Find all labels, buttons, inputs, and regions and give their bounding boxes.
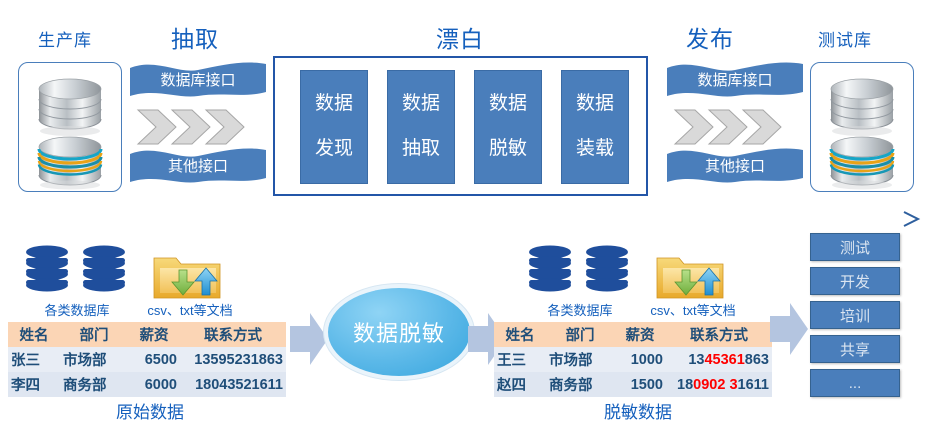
bleach-panel: 数据 发现 数据 抽取 数据 脱敏 数据 装载 [273,56,648,196]
tel-suffix: 863 [745,352,769,368]
tel-prefix: 13 [688,352,704,368]
heading-test-db: 测试库 [790,26,900,51]
extract-ribbon-bottom: 其他接口 [130,148,266,188]
production-db-container [18,62,122,192]
cell-contact: 18043521611 [180,372,286,397]
bleach-step-3-line1: 数据 [489,93,527,115]
usage-box-sharing-label: 共享 [840,339,870,360]
col-header-name: 姓名 [8,322,60,347]
right-db-caption: 各类数据库 [525,300,635,319]
col-header-contact: 联系方式 [180,322,286,347]
right-file-caption: csv、txt等文档 [637,300,749,319]
table-row: 李四 商务部 6000 18043521611 [8,372,286,397]
usage-box-training-label: 培训 [840,305,870,326]
test-db-container [810,62,914,192]
table-header-row: 姓名 部门 薪资 联系方式 [494,322,772,347]
tel-masked: 0902 3 [693,377,737,393]
col-header-contact: 联系方式 [666,322,772,347]
table-header-row: 姓名 部门 薪资 联系方式 [8,322,286,347]
cell-dept: 市场部 [546,347,614,372]
cell-salary: 1500 [614,372,666,397]
masked-data-caption: 脱敏数据 [548,398,728,423]
publish-ribbon-top: 数据库接口 [667,62,803,102]
bleach-step-4-line1: 数据 [576,93,614,115]
col-header-salary: 薪资 [614,322,666,347]
extract-chevrons [136,108,258,146]
usage-box-development[interactable]: 开发 [810,267,900,295]
database-icon-left-group [22,245,132,298]
cell-contact: 1345361863 [666,347,772,372]
extract-ribbon-top: 数据库接口 [130,62,266,102]
bleach-step-3-line2: 脱敏 [489,138,527,160]
heading-production-db: 生产库 [10,26,120,51]
cell-salary: 1000 [614,347,666,372]
heading-publish: 发布 [655,20,765,54]
col-header-name: 姓名 [494,322,546,347]
masked-data-table: 姓名 部门 薪资 联系方式 王三 市场部 1000 1345361863 赵四 … [494,322,772,397]
timeline-arrow [0,205,928,233]
cell-dept: 市场部 [60,347,128,372]
database-icon-test [811,63,913,191]
database-icon-production [19,63,121,191]
usage-box-development-label: 开发 [840,271,870,292]
publish-chevrons [673,108,795,146]
cell-name: 王三 [494,347,546,372]
cell-name: 李四 [8,372,60,397]
bleach-step-4[interactable]: 数据 装载 [561,70,629,184]
heading-extract: 抽取 [140,20,250,54]
database-icon-right-group [525,245,635,298]
col-header-salary: 薪资 [128,322,180,347]
col-header-dept: 部门 [546,322,614,347]
usage-box-test[interactable]: 测试 [810,233,900,261]
cell-contact: 13595231863 [180,347,286,372]
usage-box-test-label: 测试 [840,237,870,258]
bleach-step-1-line2: 发现 [315,138,353,160]
bleach-step-2-line2: 抽取 [402,138,440,160]
extract-ribbon-bottom-label: 其他接口 [130,148,266,186]
cell-dept: 商务部 [546,372,614,397]
cell-contact: 180902 31611 [666,372,772,397]
bleach-step-1-line1: 数据 [315,93,353,115]
cell-name: 张三 [8,347,60,372]
cell-dept: 商务部 [60,372,128,397]
extract-ribbon-top-label: 数据库接口 [130,62,266,100]
cell-name: 赵四 [494,372,546,397]
usage-box-sharing[interactable]: 共享 [810,335,900,363]
flow-arrow-left [288,310,330,373]
tel-prefix: 18 [677,377,693,393]
left-db-caption: 各类数据库 [22,300,132,319]
tel-masked: 45361 [704,352,744,368]
original-data-caption: 原始数据 [60,398,240,423]
cell-salary: 6500 [128,347,180,372]
original-data-table: 姓名 部门 薪资 联系方式 张三 市场部 6500 13595231863 李四… [8,322,286,397]
usage-box-more-label: ... [849,375,862,392]
heading-bleach: 漂白 [405,20,515,54]
publish-ribbon-bottom: 其他接口 [667,148,803,188]
bleach-step-3[interactable]: 数据 脱敏 [474,70,542,184]
publish-ribbon-bottom-label: 其他接口 [667,148,803,186]
usage-box-more[interactable]: ... [810,369,900,397]
bleach-step-1[interactable]: 数据 发现 [300,70,368,184]
tel-suffix: 1611 [738,377,769,393]
table-row: 王三 市场部 1000 1345361863 [494,347,772,372]
bleach-step-2-line1: 数据 [402,93,440,115]
table-row: 赵四 商务部 1500 180902 31611 [494,372,772,397]
bleach-step-4-line2: 装载 [576,138,614,160]
col-header-dept: 部门 [60,322,128,347]
flow-arrow-right [768,300,810,363]
cell-salary: 6000 [128,372,180,397]
masking-process-label: 数据脱敏 [353,316,445,348]
publish-ribbon-top-label: 数据库接口 [667,62,803,100]
usage-box-training[interactable]: 培训 [810,301,900,329]
bleach-step-2[interactable]: 数据 抽取 [387,70,455,184]
masking-process-ellipse[interactable]: 数据脱敏 [328,288,470,376]
left-file-caption: csv、txt等文档 [134,300,246,319]
table-row: 张三 市场部 6500 13595231863 [8,347,286,372]
